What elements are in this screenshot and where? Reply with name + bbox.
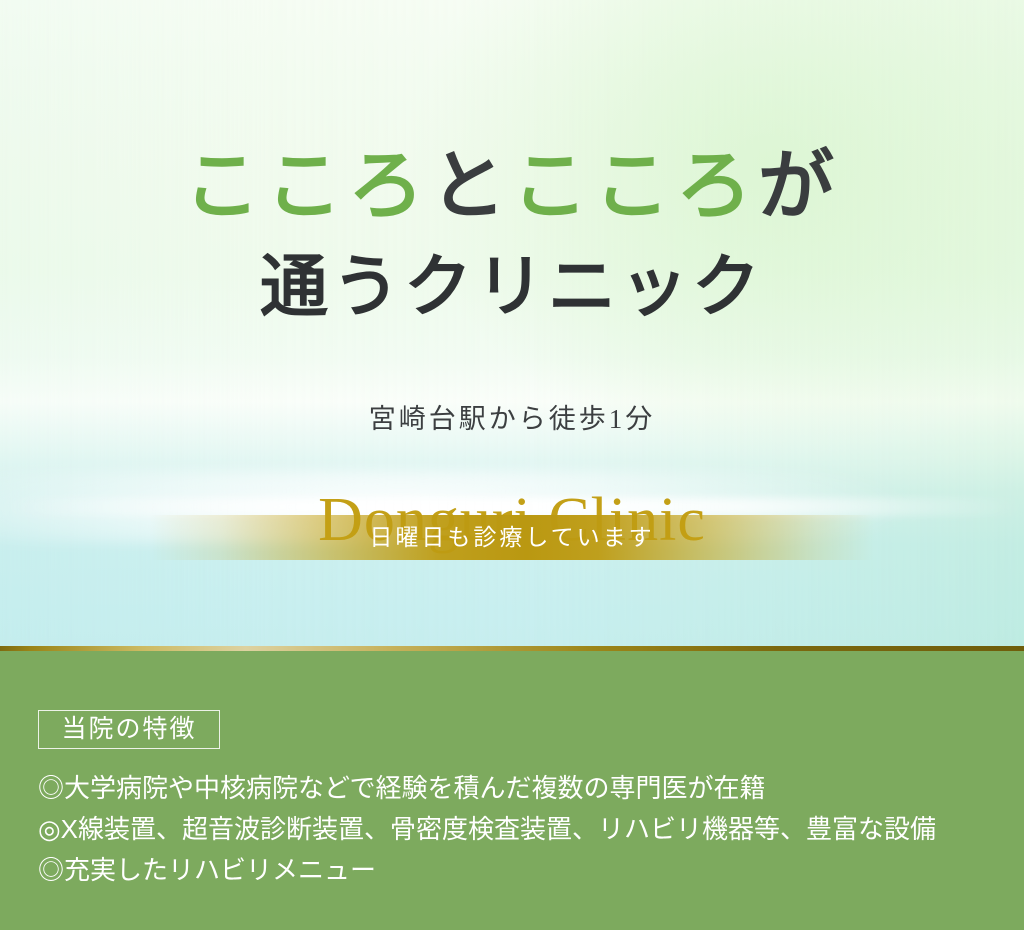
- hero-section: こころとこころが 通うクリニック 宮崎台駅から徒歩1分 Donguri Clin…: [0, 0, 1024, 648]
- hero-headline: こころとこころが 通うクリニック: [0, 149, 1024, 329]
- list-item: ◎大学病院や中核病院などで経験を積んだ複数の専門医が在籍: [38, 768, 998, 809]
- list-item: ◎X線装置、超音波診断装置、骨密度検査装置、リハビリ機器等、豊富な設備: [38, 809, 998, 850]
- features-list: ◎大学病院や中核病院などで経験を積んだ複数の専門医が在籍 ◎X線装置、超音波診断…: [38, 768, 998, 891]
- clinic-landing-page: こころとこころが 通うクリニック 宮崎台駅から徒歩1分 Donguri Clin…: [0, 0, 1024, 930]
- features-title-label: 当院の特徴: [39, 711, 219, 748]
- hero-content: こころとこころが 通うクリニック 宮崎台駅から徒歩1分 Donguri Clin…: [0, 0, 1024, 648]
- list-item: ◎充実したリハビリメニュー: [38, 850, 998, 891]
- headline-segment-to: と: [430, 145, 512, 229]
- headline-line-1: こころとこころが: [0, 149, 1024, 235]
- ribbon-label: 日曜日も診療しています: [0, 515, 1024, 560]
- headline-segment-kokoro-2: こころ: [512, 145, 758, 229]
- access-tagline: 宮崎台駅から徒歩1分: [0, 397, 1024, 436]
- sunday-hours-ribbon: 日曜日も診療しています: [0, 515, 1024, 560]
- features-title-box: 当院の特徴: [38, 710, 220, 749]
- headline-line-2: 通うクリニック: [0, 253, 1024, 329]
- headline-segment-ga: が: [758, 145, 840, 229]
- headline-segment-kokoro-1: こころ: [184, 145, 430, 229]
